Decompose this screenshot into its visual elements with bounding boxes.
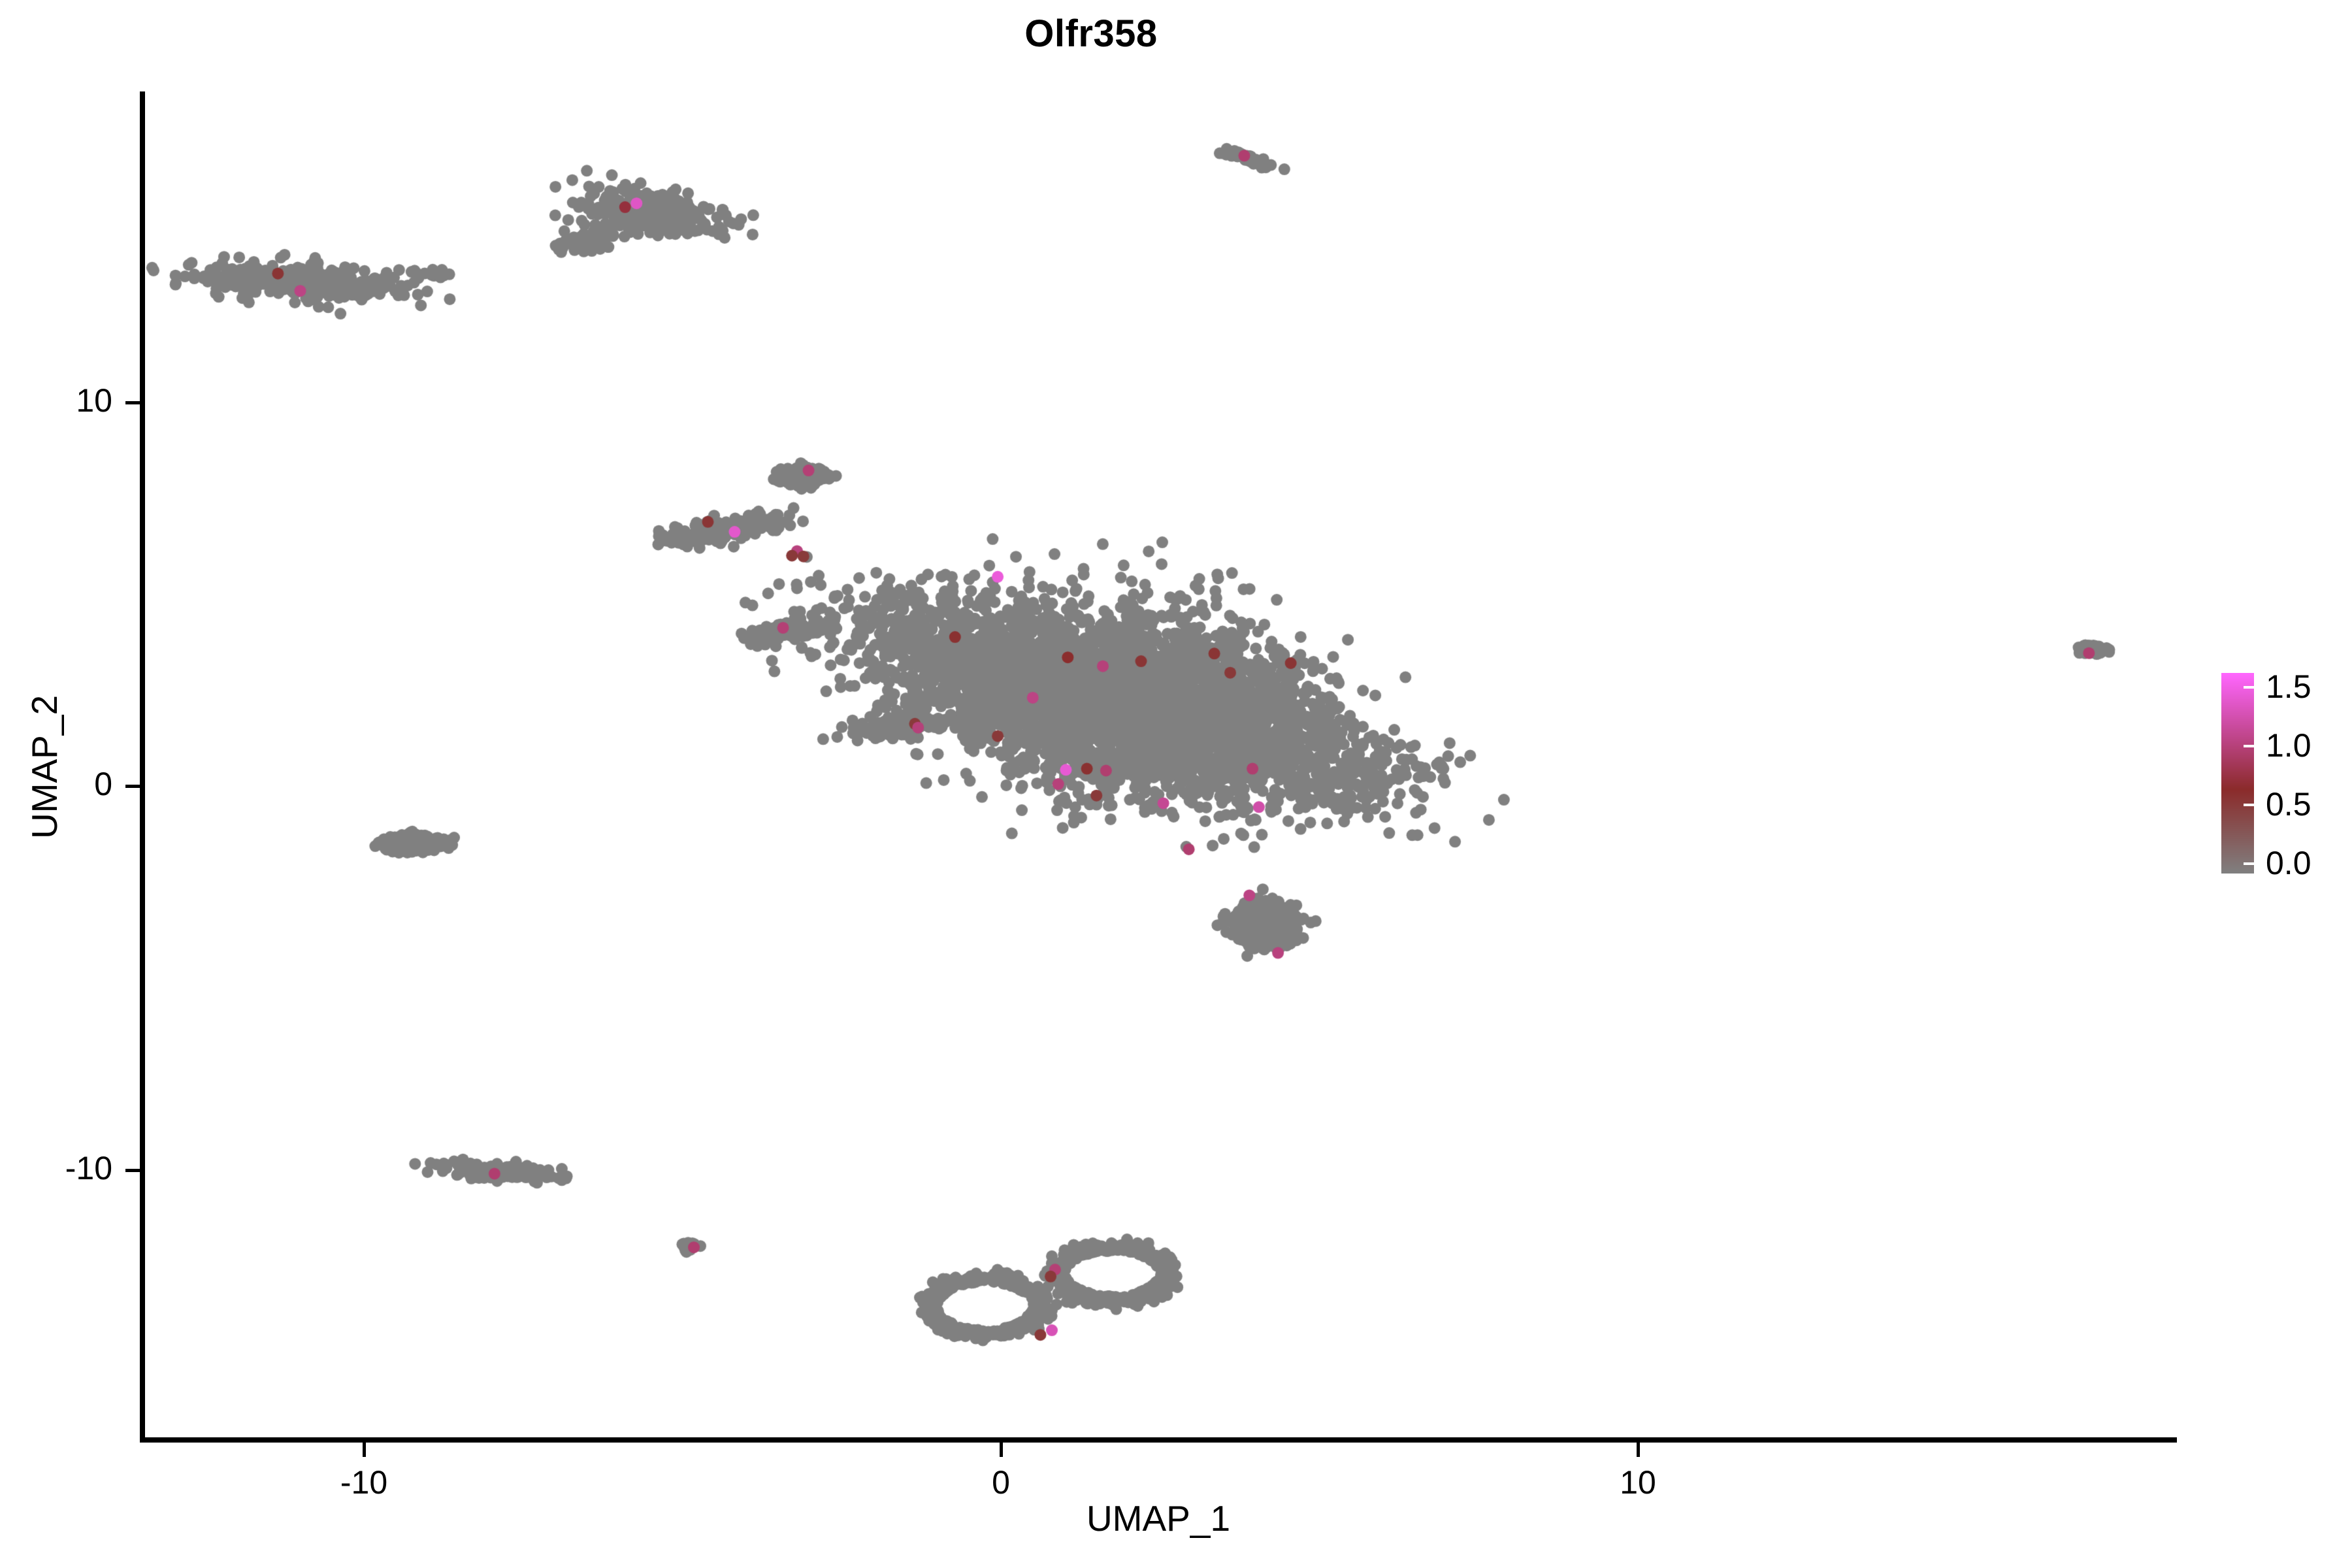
scatter-canvas [144,91,2176,1439]
page-title: Olfr358 [0,12,2182,56]
y-tick-mark [125,1169,140,1172]
colorbar-tick-label: 1.5 [2266,668,2311,706]
x-axis-line [140,1437,2177,1443]
x-tick-mark [363,1443,366,1457]
colorbar-tick-label: 1.0 [2266,727,2311,764]
umap-feature-plot: Olfr358 -10010 -10010 UMAP_1 UMAP_2 0.00… [0,0,2352,1568]
colorbar-tick-label: 0.0 [2266,844,2311,882]
y-axis-title: UMAP_2 [24,558,65,976]
x-tick-mark [1637,1443,1640,1457]
x-tick-label: 10 [1540,1463,1736,1501]
colorbar-gradient [2221,673,2254,874]
y-tick-label: -10 [0,1149,112,1187]
legend-colorbar: 0.00.51.01.5 [2221,668,2345,890]
x-tick-label: -10 [266,1463,462,1501]
y-axis-line [140,91,145,1443]
x-tick-label: 0 [903,1463,1099,1501]
colorbar-tick-mark [2244,745,2255,747]
x-axis-title: UMAP_1 [140,1497,2177,1539]
colorbar-tick-mark [2244,862,2255,865]
colorbar-tick-mark [2244,804,2255,806]
colorbar-tick-label: 0.5 [2266,785,2311,823]
y-tick-mark [125,401,140,404]
x-tick-mark [1000,1443,1003,1457]
y-tick-label: 10 [0,382,112,419]
y-tick-mark [125,785,140,788]
colorbar-tick-mark [2244,686,2255,689]
plot-panel [144,91,2176,1439]
